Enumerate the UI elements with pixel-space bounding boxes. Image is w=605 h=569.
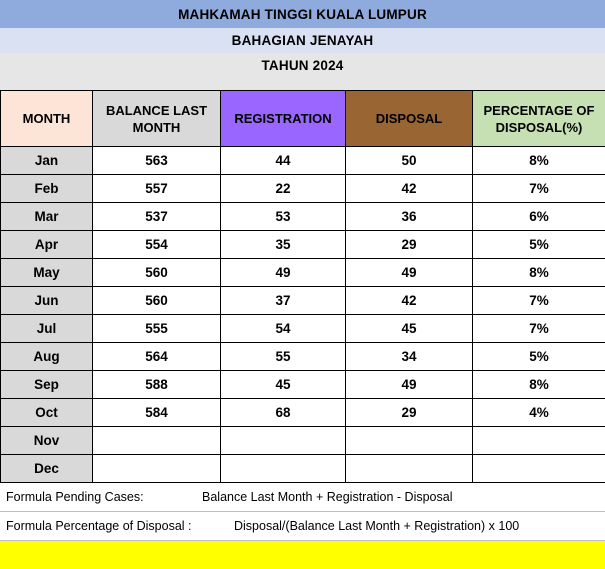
cell-disposal[interactable]: 50 (346, 147, 473, 175)
cell-disposal[interactable] (346, 455, 473, 483)
cell-percentage[interactable]: 8% (473, 147, 605, 175)
table-row: Jan56344508% (1, 147, 605, 175)
cell-registration[interactable]: 44 (221, 147, 346, 175)
cell-registration[interactable]: 53 (221, 203, 346, 231)
cell-month[interactable]: Dec (1, 455, 93, 483)
formula-row-pending-cases: Formula Pending Cases: Balance Last Mont… (0, 483, 605, 512)
cell-balance[interactable]: 564 (93, 343, 221, 371)
cell-percentage[interactable]: 7% (473, 175, 605, 203)
cell-month[interactable]: Apr (1, 231, 93, 259)
cell-balance[interactable]: 554 (93, 231, 221, 259)
cell-balance[interactable]: 584 (93, 399, 221, 427)
cell-registration[interactable]: 68 (221, 399, 346, 427)
cell-month[interactable]: Jul (1, 315, 93, 343)
cell-percentage[interactable]: 7% (473, 315, 605, 343)
title-line-3: TAHUN 2024 (0, 53, 605, 78)
spreadsheet-sheet: MAHKAMAH TINGGI KUALA LUMPUR BAHAGIAN JE… (0, 0, 605, 567)
cell-month[interactable]: Mar (1, 203, 93, 231)
table-row: Jul55554457% (1, 315, 605, 343)
cell-month[interactable]: Jan (1, 147, 93, 175)
formula-label-percentage-disposal: Formula Percentage of Disposal : (0, 519, 234, 533)
cell-balance[interactable]: 560 (93, 287, 221, 315)
cell-disposal[interactable]: 34 (346, 343, 473, 371)
cell-month[interactable]: Sep (1, 371, 93, 399)
cell-percentage[interactable] (473, 455, 605, 483)
table-row: Sep58845498% (1, 371, 605, 399)
formula-label-pending-cases: Formula Pending Cases: (0, 490, 202, 504)
cell-balance[interactable]: 537 (93, 203, 221, 231)
cell-registration[interactable]: 49 (221, 259, 346, 287)
cell-balance[interactable] (93, 427, 221, 455)
cell-registration[interactable]: 22 (221, 175, 346, 203)
cell-registration[interactable]: 37 (221, 287, 346, 315)
cell-percentage[interactable]: 4% (473, 399, 605, 427)
title-line-1-text: MAHKAMAH TINGGI KUALA LUMPUR (178, 7, 427, 22)
table-row: Apr55435295% (1, 231, 605, 259)
table-row: Dec (1, 455, 605, 483)
title-line-2-text: BAHAGIAN JENAYAH (232, 33, 374, 48)
cell-percentage[interactable]: 5% (473, 231, 605, 259)
statistics-table: MONTH BALANCE LAST MONTH REGISTRATION DI… (0, 90, 605, 483)
table-header: MONTH BALANCE LAST MONTH REGISTRATION DI… (1, 91, 605, 147)
cell-disposal[interactable]: 42 (346, 287, 473, 315)
table-row: Mar53753366% (1, 203, 605, 231)
table-row: Oct58468294% (1, 399, 605, 427)
cell-month[interactable]: Oct (1, 399, 93, 427)
cell-balance[interactable] (93, 455, 221, 483)
cell-disposal[interactable]: 36 (346, 203, 473, 231)
cell-balance[interactable]: 557 (93, 175, 221, 203)
cell-month[interactable]: Aug (1, 343, 93, 371)
title-line-2: BAHAGIAN JENAYAH (0, 28, 605, 53)
cell-month[interactable]: Feb (1, 175, 93, 203)
cell-registration[interactable]: 45 (221, 371, 346, 399)
column-header-disposal[interactable]: DISPOSAL (346, 91, 473, 147)
cell-disposal[interactable]: 29 (346, 399, 473, 427)
cell-registration[interactable] (221, 427, 346, 455)
cell-disposal[interactable]: 49 (346, 371, 473, 399)
cell-registration[interactable]: 54 (221, 315, 346, 343)
cell-percentage[interactable]: 5% (473, 343, 605, 371)
table-row: May56049498% (1, 259, 605, 287)
table-row: Nov (1, 427, 605, 455)
formula-row-percentage-disposal: Formula Percentage of Disposal : Disposa… (0, 512, 605, 541)
cell-month[interactable]: Nov (1, 427, 93, 455)
cell-balance[interactable]: 560 (93, 259, 221, 287)
table-row: Aug56455345% (1, 343, 605, 371)
cell-registration[interactable]: 55 (221, 343, 346, 371)
cell-registration[interactable] (221, 455, 346, 483)
cell-percentage[interactable]: 8% (473, 259, 605, 287)
cell-month[interactable]: May (1, 259, 93, 287)
cell-balance[interactable]: 563 (93, 147, 221, 175)
cell-disposal[interactable] (346, 427, 473, 455)
cell-percentage[interactable] (473, 427, 605, 455)
cell-percentage[interactable]: 8% (473, 371, 605, 399)
column-header-month[interactable]: MONTH (1, 91, 93, 147)
cell-disposal[interactable]: 45 (346, 315, 473, 343)
column-header-percentage-of-disposal[interactable]: PERCENTAGE OF DISPOSAL(%) (473, 91, 605, 147)
title-line-3-text: TAHUN 2024 (261, 58, 343, 73)
cell-disposal[interactable]: 29 (346, 231, 473, 259)
cell-percentage[interactable]: 7% (473, 287, 605, 315)
cell-balance[interactable]: 555 (93, 315, 221, 343)
cell-percentage[interactable]: 6% (473, 203, 605, 231)
cell-month[interactable]: Jun (1, 287, 93, 315)
footer-highlight-bar (0, 541, 605, 569)
formula-value-percentage-disposal: Disposal/(Balance Last Month + Registrat… (234, 519, 519, 533)
formula-value-pending-cases: Balance Last Month + Registration - Disp… (202, 490, 452, 504)
table-header-row: MONTH BALANCE LAST MONTH REGISTRATION DI… (1, 91, 605, 147)
cell-disposal[interactable]: 42 (346, 175, 473, 203)
cell-disposal[interactable]: 49 (346, 259, 473, 287)
cell-registration[interactable]: 35 (221, 231, 346, 259)
title-spacer (0, 78, 605, 90)
title-line-1: MAHKAMAH TINGGI KUALA LUMPUR (0, 0, 605, 28)
table-body: Jan56344508%Feb55722427%Mar53753366%Apr5… (1, 147, 605, 483)
table-row: Jun56037427% (1, 287, 605, 315)
cell-balance[interactable]: 588 (93, 371, 221, 399)
column-header-balance-last-month[interactable]: BALANCE LAST MONTH (93, 91, 221, 147)
column-header-registration[interactable]: REGISTRATION (221, 91, 346, 147)
table-row: Feb55722427% (1, 175, 605, 203)
